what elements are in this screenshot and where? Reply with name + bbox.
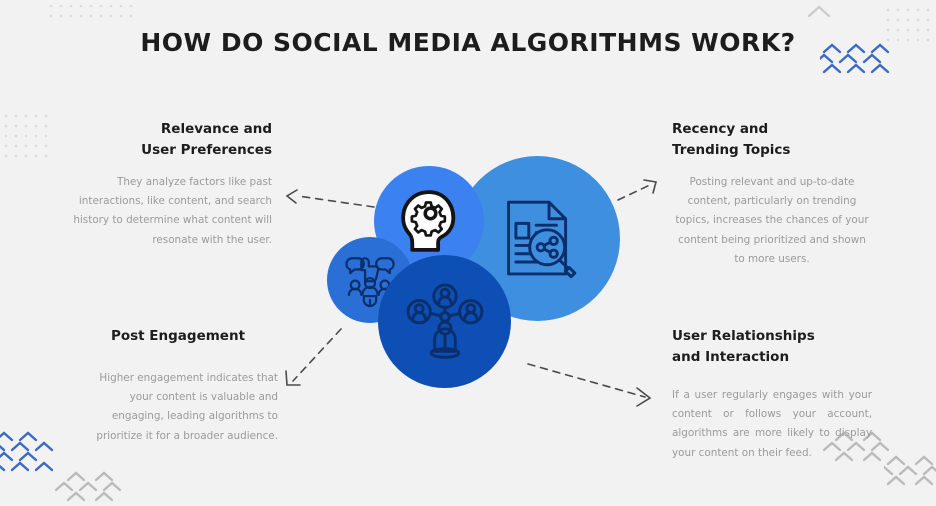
connector-to-relevance <box>287 190 374 207</box>
infographic-canvas: HOW DO SOCIAL MEDIA ALGORITHMS WORK? <box>0 0 936 500</box>
circle-user-relationships[interactable] <box>378 255 511 388</box>
head-gear-icon <box>391 183 467 259</box>
connector-to-relationships <box>528 364 650 406</box>
document-share-search-icon <box>492 193 584 285</box>
connector-to-recency <box>618 180 656 200</box>
connector-to-engagement <box>286 329 341 385</box>
user-network-icon <box>402 279 488 365</box>
